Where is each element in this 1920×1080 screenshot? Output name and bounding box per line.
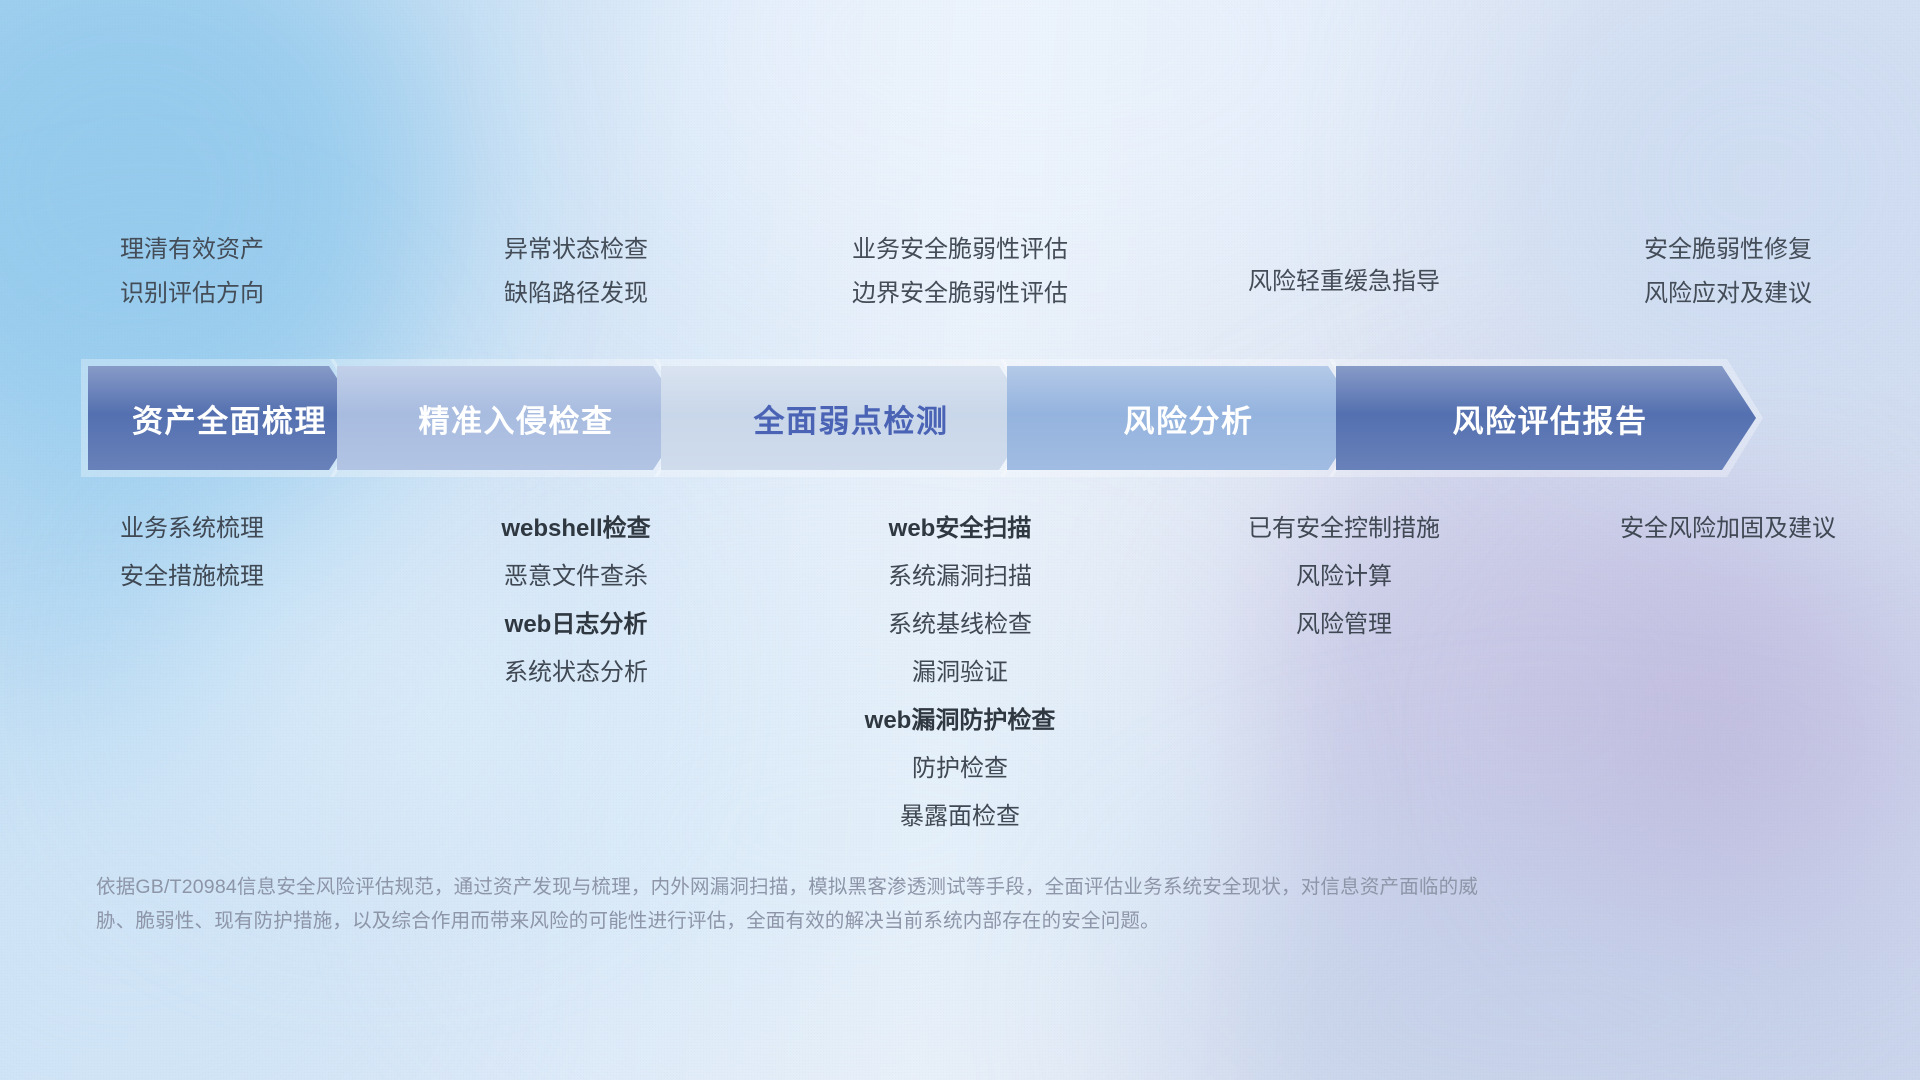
detail-item: 系统状态分析 bbox=[384, 649, 768, 697]
chevron-step-label: 精准入侵检查 bbox=[401, 396, 624, 441]
caption-line: 识别评估方向 bbox=[0, 272, 384, 316]
top-caption-col-2: 异常状态检查 缺陷路径发现 bbox=[384, 228, 768, 316]
top-captions-row: 理清有效资产 识别评估方向 异常状态检查 缺陷路径发现 业务安全脆弱性评估 边界… bbox=[0, 228, 1920, 308]
chevron-frame-4: 风险分析 bbox=[1007, 366, 1362, 470]
detail-item: web日志分析 bbox=[384, 601, 768, 649]
detail-item: 系统基线检查 bbox=[768, 601, 1152, 649]
detail-item: webshell检查 bbox=[384, 505, 768, 553]
caption-line: 业务安全脆弱性评估 bbox=[768, 228, 1152, 272]
footer-description: 依据GB/T20984信息安全风险评估规范，通过资产发现与梳理，内外网漏洞扫描，… bbox=[96, 870, 1516, 938]
caption-line: 安全脆弱性修复 bbox=[1536, 228, 1920, 272]
chevron-step-label: 风险分析 bbox=[1106, 396, 1264, 441]
chevron-step-5[interactable]: 风险评估报告 bbox=[1336, 366, 1756, 470]
bottom-detail-row: 业务系统梳理安全措施梳理 webshell检查恶意文件查杀web日志分析系统状态… bbox=[0, 505, 1920, 841]
detail-item: 已有安全控制措施 bbox=[1152, 505, 1536, 553]
process-chevron-banner: 资产全面梳理 精准入侵检查 全面弱点检测 风险分析 风险评估报告 bbox=[88, 366, 1833, 470]
detail-item: 漏洞验证 bbox=[768, 649, 1152, 697]
caption-line: 风险轻重缓急指导 bbox=[1152, 260, 1536, 304]
detail-list-1: 业务系统梳理安全措施梳理 bbox=[0, 505, 384, 841]
caption-line: 风险应对及建议 bbox=[1536, 272, 1920, 316]
detail-item: web漏洞防护检查 bbox=[768, 697, 1152, 745]
detail-list-5: 安全风险加固及建议 bbox=[1536, 505, 1920, 841]
chevron-frame-1: 资产全面梳理 bbox=[88, 366, 363, 470]
chevron-step-2[interactable]: 精准入侵检查 bbox=[337, 366, 687, 470]
detail-item: 安全措施梳理 bbox=[0, 553, 384, 601]
detail-item: 业务系统梳理 bbox=[0, 505, 384, 553]
detail-item: web安全扫描 bbox=[768, 505, 1152, 553]
detail-item: 恶意文件查杀 bbox=[384, 553, 768, 601]
chevron-step-4[interactable]: 风险分析 bbox=[1007, 366, 1362, 470]
top-caption-col-5: 安全脆弱性修复 风险应对及建议 bbox=[1536, 228, 1920, 316]
chevron-frame-3: 全面弱点检测 bbox=[661, 366, 1033, 470]
top-caption-col-1: 理清有效资产 识别评估方向 bbox=[0, 228, 384, 316]
detail-list-4: 已有安全控制措施风险计算风险管理 bbox=[1152, 505, 1536, 841]
chevron-frame-5: 风险评估报告 bbox=[1336, 366, 1756, 470]
chevron-step-1[interactable]: 资产全面梳理 bbox=[88, 366, 363, 470]
detail-item: 安全风险加固及建议 bbox=[1536, 505, 1920, 553]
detail-list-3: web安全扫描系统漏洞扫描系统基线检查漏洞验证web漏洞防护检查防护检查暴露面检… bbox=[768, 505, 1152, 841]
chevron-step-3[interactable]: 全面弱点检测 bbox=[661, 366, 1033, 470]
caption-line: 异常状态检查 bbox=[384, 228, 768, 272]
detail-item: 暴露面检查 bbox=[768, 793, 1152, 841]
detail-item: 风险计算 bbox=[1152, 553, 1536, 601]
detail-item: 系统漏洞扫描 bbox=[768, 553, 1152, 601]
top-caption-col-4: 风险轻重缓急指导 bbox=[1152, 228, 1536, 316]
detail-item: 防护检查 bbox=[768, 745, 1152, 793]
top-caption-col-3: 业务安全脆弱性评估 边界安全脆弱性评估 bbox=[768, 228, 1152, 316]
chevron-step-label: 全面弱点检测 bbox=[736, 396, 959, 441]
caption-line: 缺陷路径发现 bbox=[384, 272, 768, 316]
chevron-step-label: 风险评估报告 bbox=[1435, 396, 1658, 441]
detail-list-2: webshell检查恶意文件查杀web日志分析系统状态分析 bbox=[384, 505, 768, 841]
caption-line: 边界安全脆弱性评估 bbox=[768, 272, 1152, 316]
detail-item: 风险管理 bbox=[1152, 601, 1536, 649]
caption-line: 理清有效资产 bbox=[0, 228, 384, 272]
chevron-step-label: 资产全面梳理 bbox=[114, 396, 337, 441]
chevron-frame-2: 精准入侵检查 bbox=[337, 366, 687, 470]
